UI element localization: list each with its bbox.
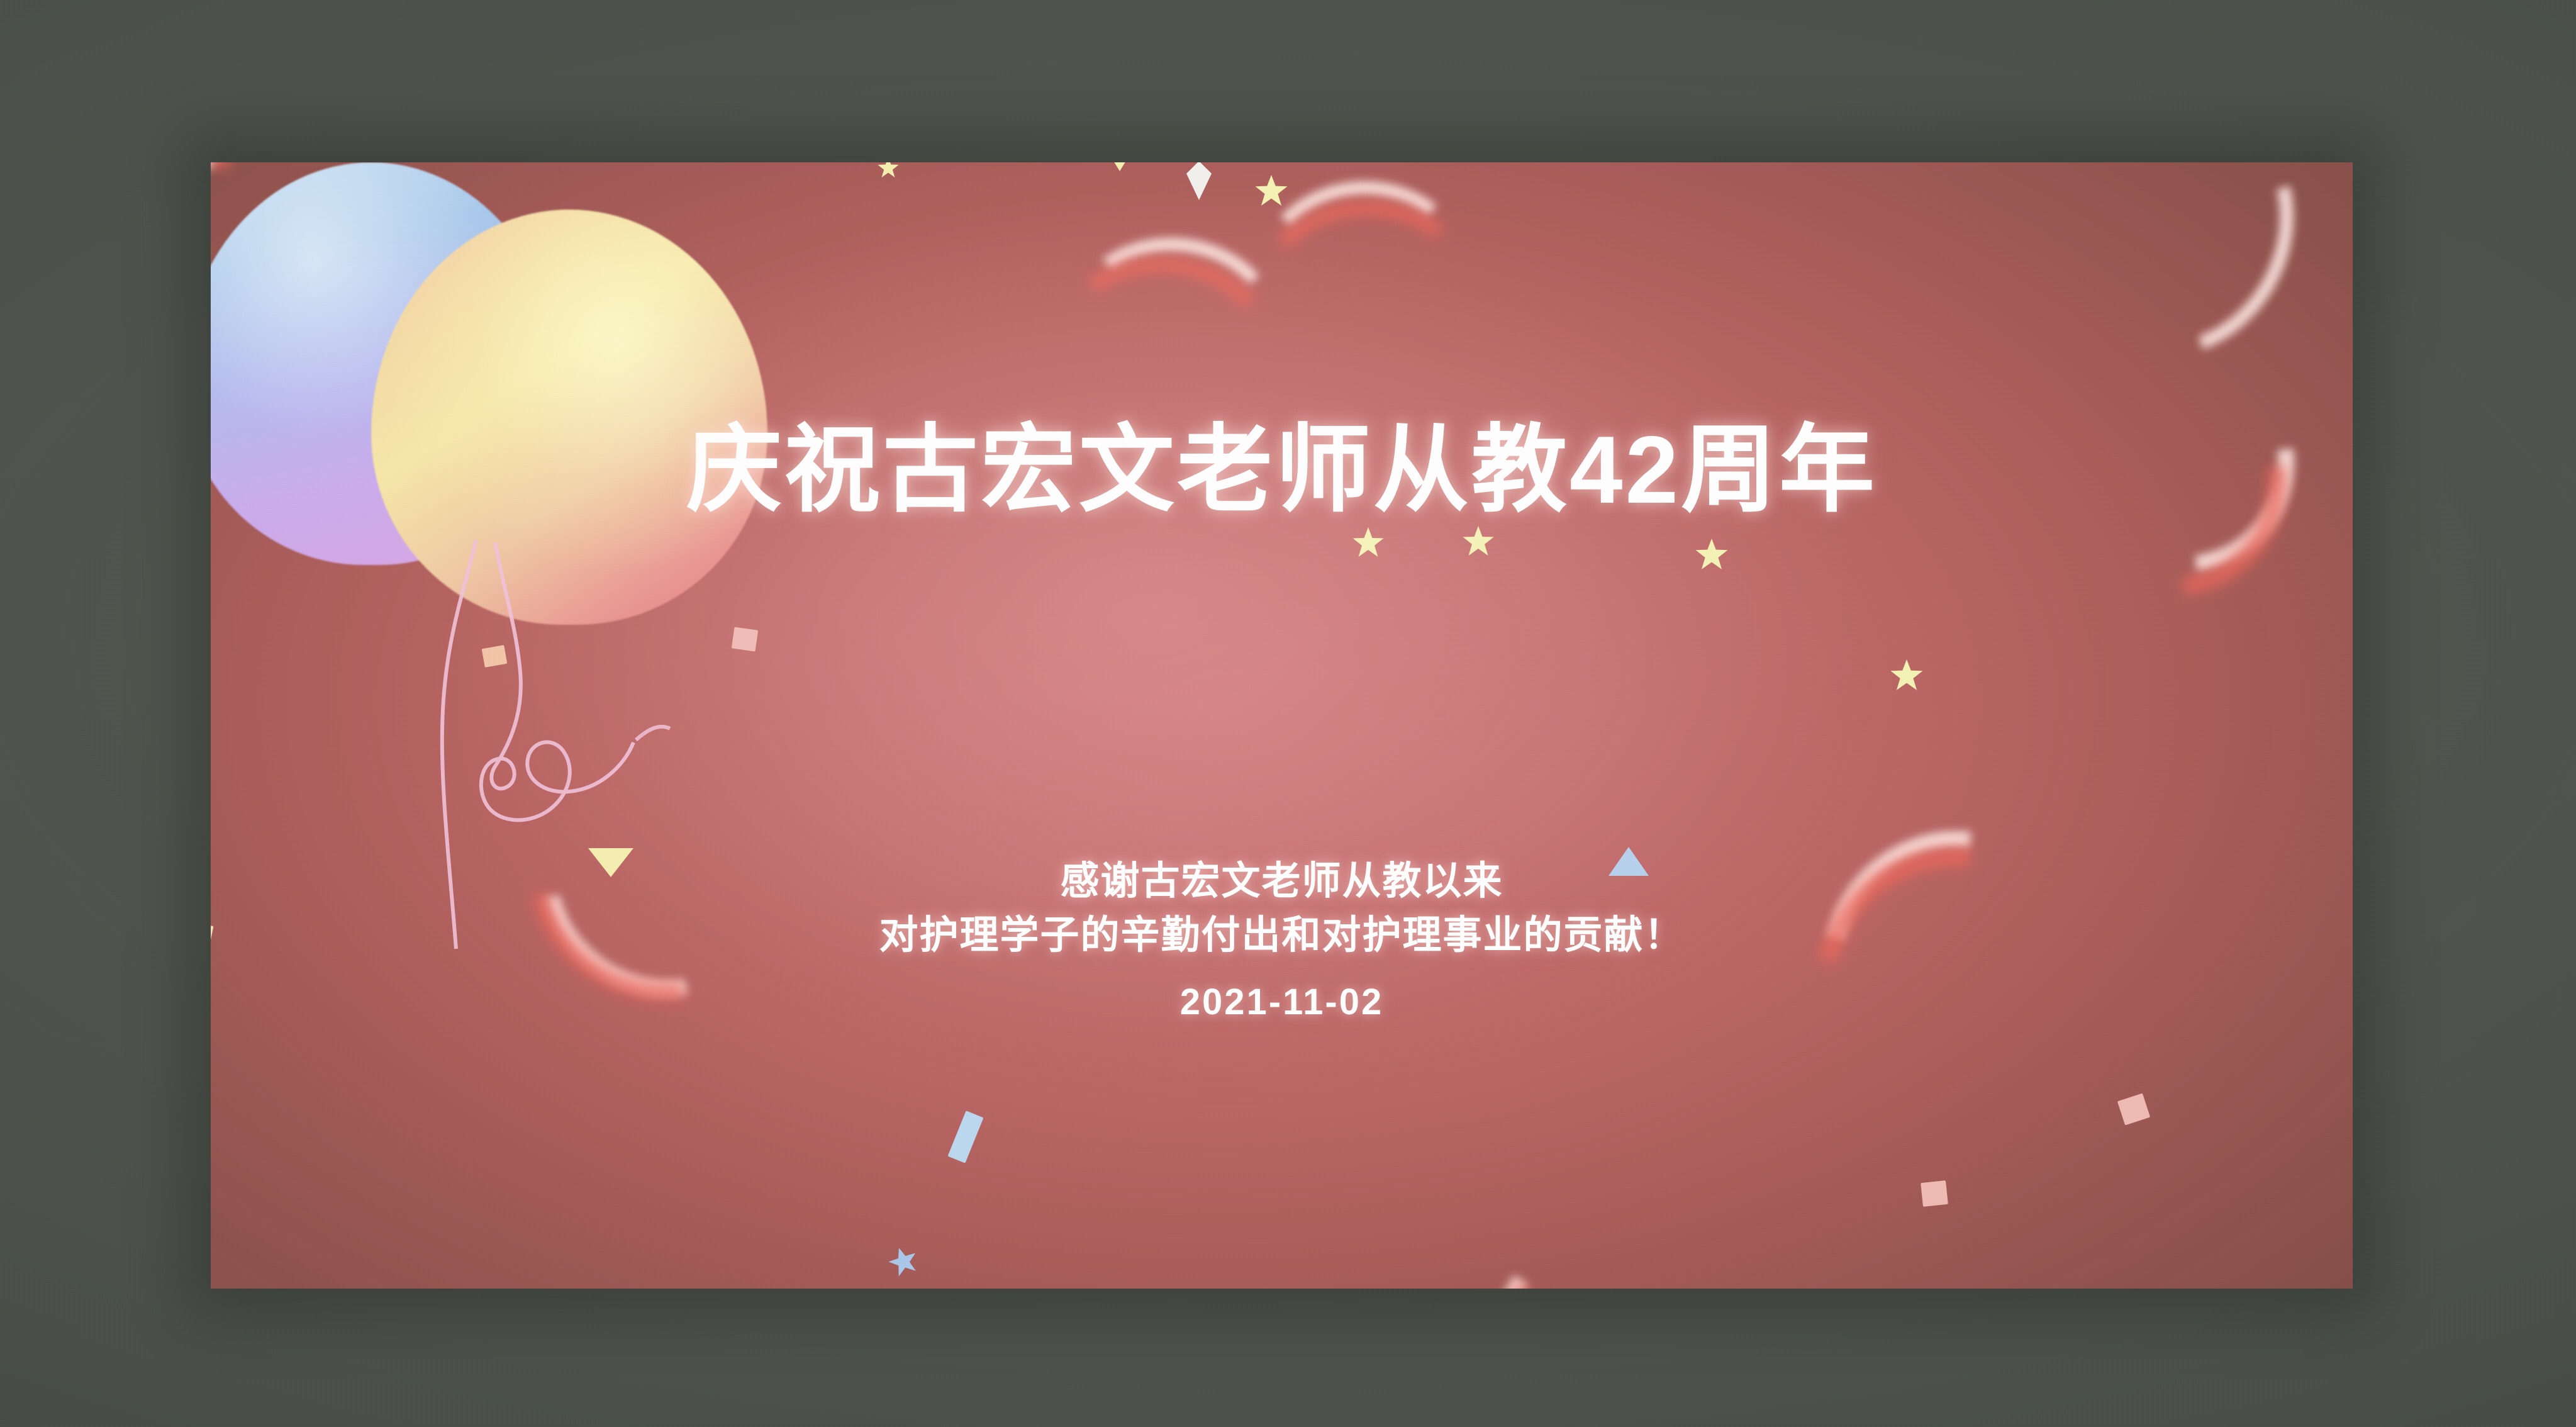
ribbon-bottom-mid-glow-icon	[1285, 1013, 1580, 1289]
triangle-yellow-1-icon	[1110, 162, 1130, 171]
diamond-white-icon	[1186, 162, 1212, 200]
projector-hotspot	[211, 162, 2353, 1289]
star-yellow-6-icon	[1890, 659, 1923, 692]
rect-blue-icon	[947, 1111, 983, 1163]
square-pink-3-icon	[1921, 1180, 1948, 1207]
slide-date: 2021-11-02	[211, 981, 2353, 1023]
ribbon-bottom-mid-icon	[1300, 1022, 1570, 1289]
ribbon-right-upper-icon	[2026, 162, 2336, 396]
star-yellow-4-icon	[1463, 526, 1494, 557]
star-blue-2-icon	[885, 1243, 922, 1280]
star-yellow-2-icon	[1255, 175, 1288, 208]
slide-subtitle-block: 感谢古宏文老师从教以来 对护理学子的辛勤付出和对护理事业的贡献！ 2021-11…	[211, 854, 2353, 1023]
screenshot-stage: 庆祝古宏文老师从教42周年 感谢古宏文老师从教以来 对护理学子的辛勤付出和对护理…	[0, 0, 2576, 1427]
ribbon-top-center-2-glow-icon	[1242, 192, 1490, 417]
subtitle-line-2: 对护理学子的辛勤付出和对护理事业的贡献！	[211, 909, 2353, 963]
square-pink-2-icon	[732, 627, 758, 652]
subtitle-line-1: 感谢古宏文老师从教以来	[211, 854, 2353, 909]
square-pink-1-icon	[482, 645, 508, 668]
ribbon-top-left-glow-icon	[211, 162, 473, 365]
star-yellow-1-icon	[878, 162, 899, 179]
screen-grain-overlay	[211, 162, 2353, 1289]
ribbon-top-center-2-icon	[1249, 174, 1478, 379]
star-yellow-3-icon	[1352, 527, 1384, 559]
slide-title: 庆祝古宏文老师从教42周年	[211, 392, 2353, 530]
ribbon-top-left-icon	[211, 162, 472, 361]
star-yellow-5-icon	[1695, 539, 1728, 571]
square-pink-4-icon	[2117, 1093, 2150, 1125]
projection-screen: 庆祝古宏文老师从教42周年 感谢古宏文老师从教以来 对护理学子的辛勤付出和对护理…	[211, 162, 2353, 1289]
